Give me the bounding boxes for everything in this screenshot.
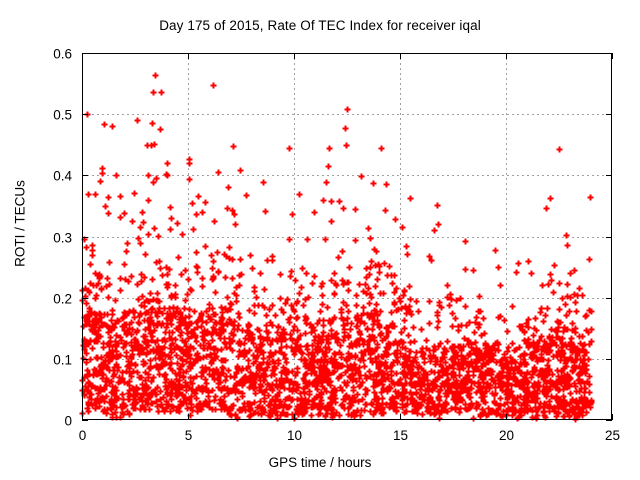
y-axis-tick-label: 0.4 [53, 169, 72, 184]
y-axis-tick-label: 0.3 [53, 231, 72, 246]
y-axis-label-wrapper: ROTI / TECUs [0, 0, 40, 480]
chart-container: Day 175 of 2015, Rate Of TEC Index for r… [0, 0, 640, 480]
x-axis-tick-label: 25 [605, 428, 620, 443]
y-axis-tick-label: 0.2 [53, 292, 72, 307]
y-axis-tick-label: 0.6 [53, 47, 72, 62]
x-axis-tick-label: 5 [185, 428, 193, 443]
x-axis-tick-label: 0 [79, 428, 87, 443]
y-axis-tick-label: 0 [64, 414, 72, 429]
x-axis-label: GPS time / hours [0, 455, 640, 470]
plot-canvas: 00.10.20.30.40.50.60510152025 [0, 0, 640, 480]
y-axis-tick-label: 0.1 [53, 353, 72, 368]
y-axis-label: ROTI / TECUs [13, 164, 28, 284]
y-axis-tick-label: 0.5 [53, 108, 72, 123]
x-axis-tick-label: 10 [287, 428, 302, 443]
x-axis-tick-label: 20 [499, 428, 514, 443]
x-axis-tick-label: 15 [393, 428, 408, 443]
